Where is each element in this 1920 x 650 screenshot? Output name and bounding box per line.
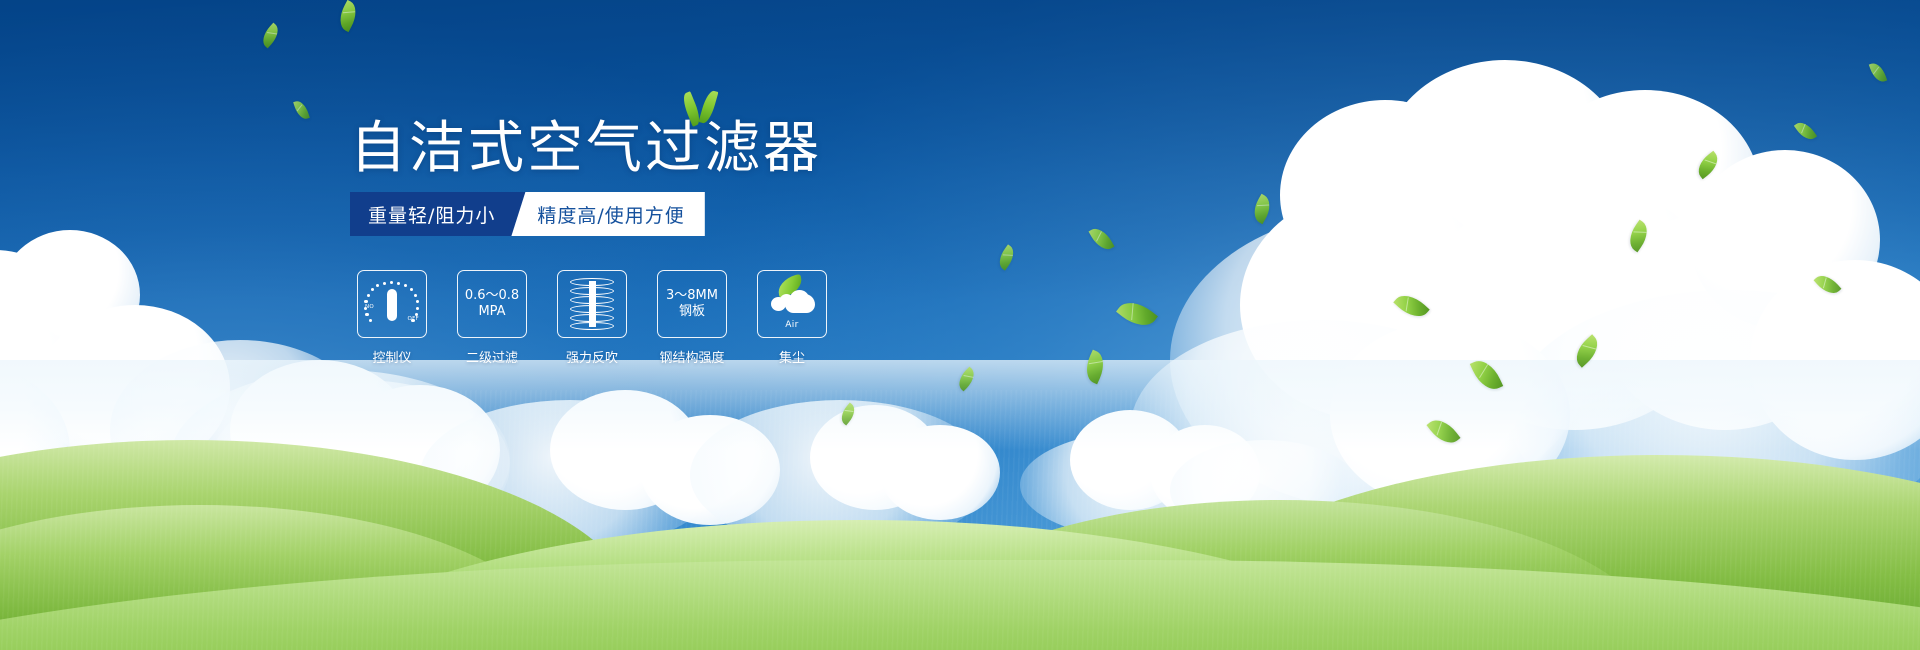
subtitle-tag-secondary: 精度高/使用方便 bbox=[511, 192, 704, 236]
feature-value-line1: 0.6～0.8 bbox=[465, 288, 519, 304]
feature-caption: 钢结构强度 bbox=[659, 347, 724, 366]
feature-box: Air bbox=[757, 270, 827, 338]
banner-content: 自洁式空气过滤器 重量轻/阻力小 精度高/使用方便 bbox=[0, 0, 1920, 650]
feature-box: 0.6～0.8 MPA bbox=[457, 270, 527, 338]
feature-item[interactable]: 0.6～0.8 MPA 二级过滤 bbox=[457, 270, 527, 366]
feature-item[interactable]: 3～8MM 钢板 钢结构强度 bbox=[657, 270, 727, 366]
filter-cartridge-icon bbox=[570, 278, 614, 330]
cloud-air-icon: Air bbox=[767, 281, 817, 327]
feature-box: 3～8MM 钢板 bbox=[657, 270, 727, 338]
feature-caption: 二级过滤 bbox=[466, 347, 518, 366]
gauge-label-no: NO bbox=[365, 304, 374, 310]
feature-list: NO OFF 控制仪 0.6～0.8 MPA 二级过滤 bbox=[357, 270, 827, 366]
feature-box bbox=[557, 270, 627, 338]
gauge-dial-icon: NO OFF bbox=[366, 280, 418, 328]
page-title: 自洁式空气过滤器 bbox=[350, 118, 822, 180]
subtitle-tag-primary: 重量轻/阻力小 bbox=[350, 192, 525, 236]
gauge-label-off: OFF bbox=[407, 316, 419, 322]
feature-caption: 集尘 bbox=[779, 347, 805, 366]
feature-caption: 强力反吹 bbox=[566, 347, 618, 366]
feature-value-line2: MPA bbox=[478, 304, 505, 320]
subtitle-tag-group: 重量轻/阻力小 精度高/使用方便 bbox=[350, 192, 705, 236]
feature-value-line1: 3～8MM bbox=[666, 288, 718, 304]
feature-item[interactable]: NO OFF 控制仪 bbox=[357, 270, 427, 366]
air-label: Air bbox=[767, 320, 817, 330]
feature-caption: 控制仪 bbox=[372, 347, 411, 366]
hero-banner: 自洁式空气过滤器 重量轻/阻力小 精度高/使用方便 bbox=[0, 0, 1920, 650]
feature-box: NO OFF bbox=[357, 270, 427, 338]
feature-value-line2: 钢板 bbox=[679, 304, 705, 320]
feature-item[interactable]: Air 集尘 bbox=[757, 270, 827, 366]
feature-item[interactable]: 强力反吹 bbox=[557, 270, 627, 366]
